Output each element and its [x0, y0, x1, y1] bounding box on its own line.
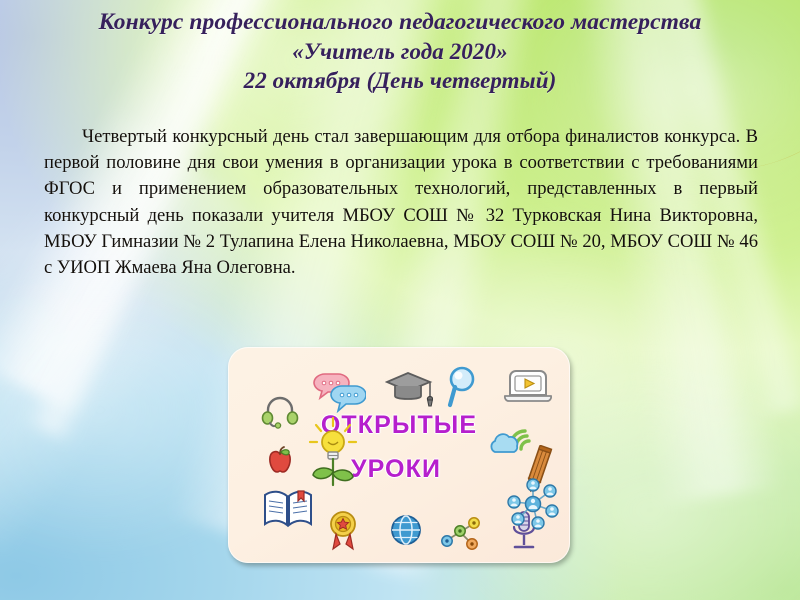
- title-line-1: Конкурс профессионального педагогическог…: [0, 8, 800, 37]
- open-book-icon: [262, 487, 314, 529]
- title-line-3: 22 октября (День четвертый): [0, 66, 800, 95]
- card-inner: ОТКРЫТЫЕ УРОКИ: [228, 347, 570, 563]
- speech-bubbles-icon: [310, 371, 366, 413]
- magnifier-icon: [446, 365, 480, 409]
- slide-title: Конкурс профессионального педагогическог…: [0, 8, 800, 95]
- award-medal-icon: [326, 509, 360, 551]
- open-lessons-card: ОТКРЫТЫЕ УРОКИ: [228, 347, 570, 563]
- slide-canvas: Конкурс профессионального педагогическог…: [0, 0, 800, 600]
- lightbulb-plant-icon: [302, 415, 364, 493]
- title-line-2: «Учитель года 2020»: [0, 37, 800, 66]
- globe-icon: [389, 513, 423, 547]
- body-text-block: Четвертый конкурсный день стал завершающ…: [44, 124, 758, 281]
- laptop-play-icon: [502, 367, 554, 407]
- graduation-cap-icon: [385, 369, 433, 409]
- body-paragraph: Четвертый конкурсный день стал завершающ…: [44, 124, 758, 281]
- network-people-icon: [506, 478, 560, 530]
- apple-icon: [264, 445, 296, 477]
- headphones-icon: [261, 395, 299, 429]
- share-nodes-icon: [438, 517, 484, 551]
